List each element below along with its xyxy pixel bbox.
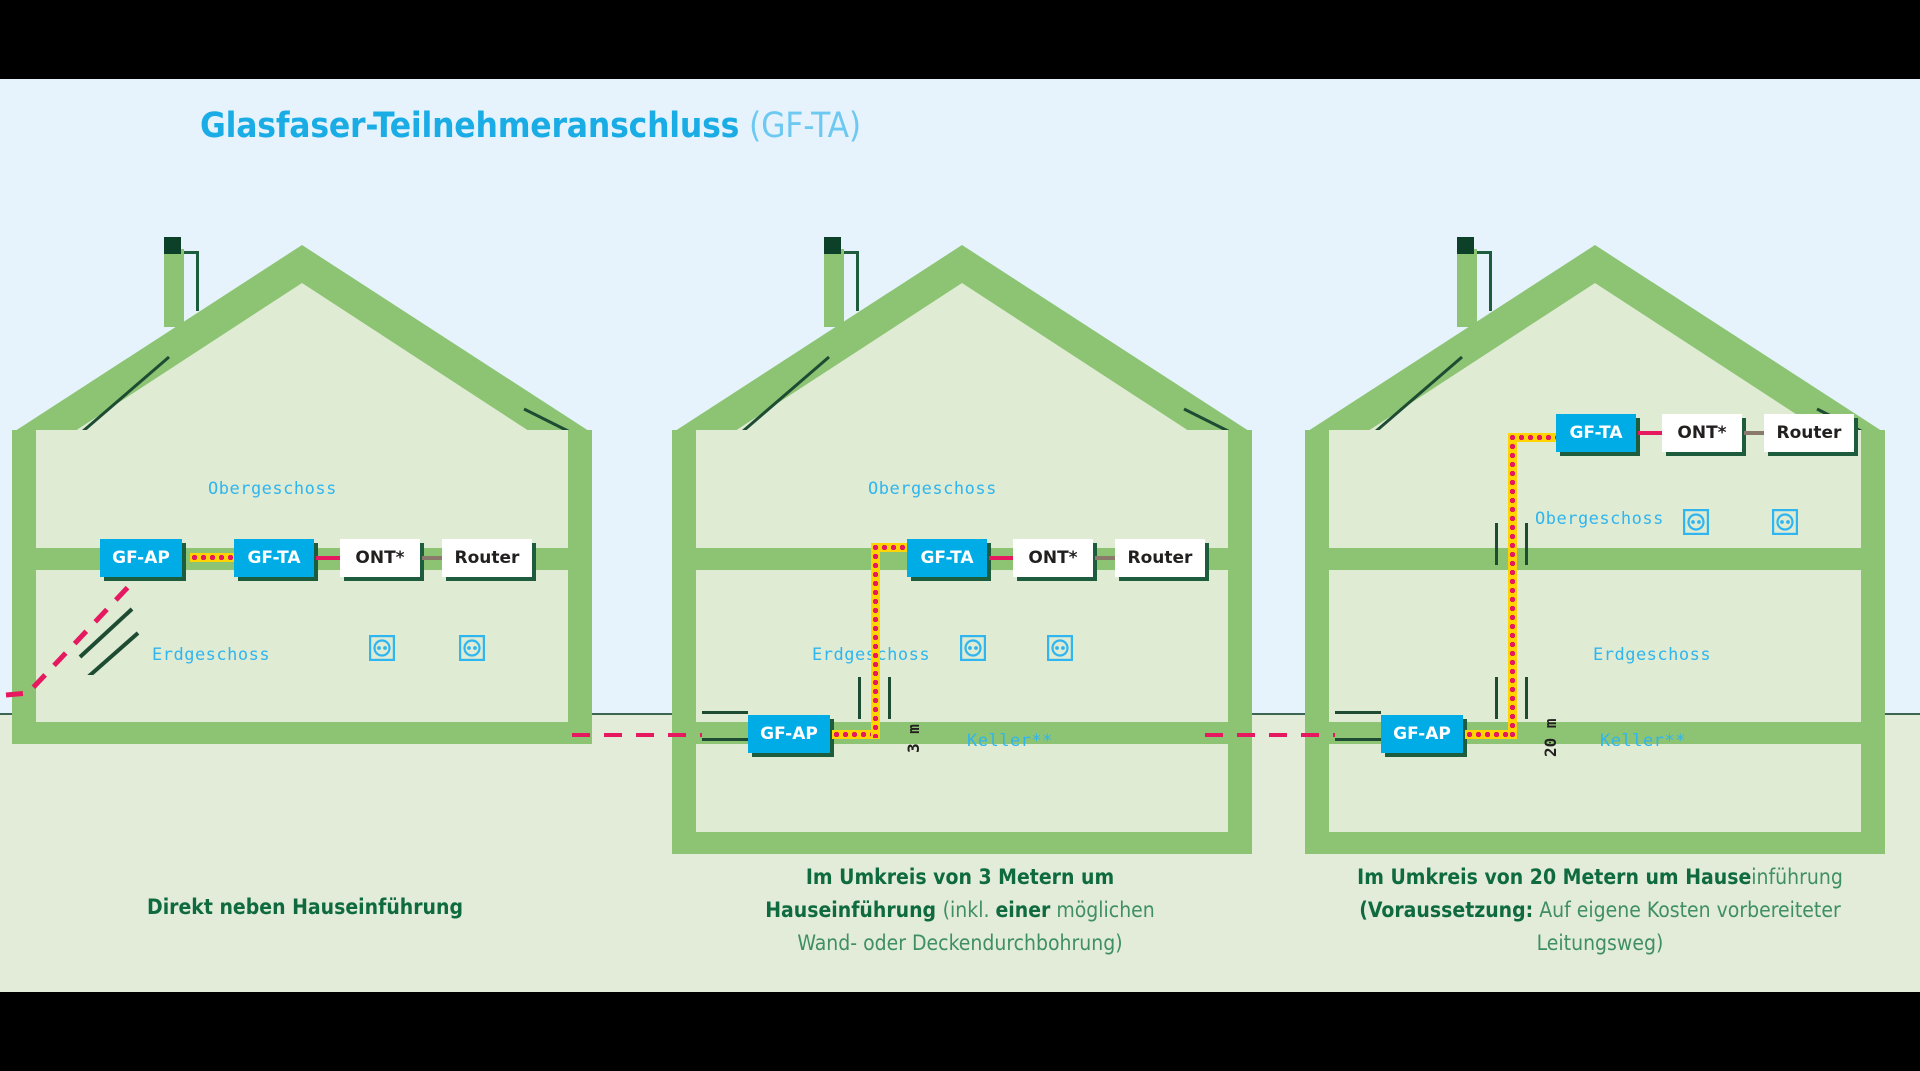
house-3: Obergeschoss Erdgeschoss Keller** GF-AP … xyxy=(1305,237,1885,887)
house-entry-marker xyxy=(1335,711,1381,741)
ceiling-penetration-mark xyxy=(1495,677,1498,719)
roof-icon xyxy=(672,237,1252,442)
floor-label-keller: Keller** xyxy=(967,731,1053,751)
fiber-segment-vertical xyxy=(1508,433,1517,738)
caption-line: Im Umkreis von 3 Metern um xyxy=(660,861,1260,894)
device-ont[interactable]: ONT* xyxy=(1662,414,1742,452)
device-router[interactable]: Router xyxy=(1115,539,1205,577)
caption-house-1: Direkt neben Hauseinführung xyxy=(30,891,580,924)
house-2: Obergeschoss Erdgeschoss Keller** GF-AP … xyxy=(672,237,1252,887)
house-3-body xyxy=(1305,430,1885,854)
caption-house-3: Im Umkreis von 20 Metern um Hauseinführu… xyxy=(1290,861,1910,960)
house-base xyxy=(12,722,592,744)
ceiling-penetration-mark xyxy=(1525,523,1528,565)
caption-line: Im Umkreis von 20 Metern um Hauseinführu… xyxy=(1290,861,1910,894)
device-gf-ta[interactable]: GF-TA xyxy=(1556,414,1636,452)
page-title: Glasfaser-Teilnehmeranschluss (GF-TA) xyxy=(200,106,861,146)
device-router[interactable]: Router xyxy=(442,539,532,577)
ceiling-penetration-mark xyxy=(1525,677,1528,719)
link-ta-ont xyxy=(1638,431,1662,435)
power-socket-icon xyxy=(369,635,395,661)
infographic-canvas: Glasfaser-Teilnehmeranschluss (GF-TA) xyxy=(0,79,1920,992)
device-gf-ap[interactable]: GF-AP xyxy=(1381,715,1463,753)
ceiling-penetration-mark xyxy=(888,677,891,719)
page-title-light: (GF-TA) xyxy=(749,106,861,146)
caption-line: Leitungsweg) xyxy=(1290,927,1910,960)
floor-label-obergeschoss: Obergeschoss xyxy=(868,479,997,499)
floor-label-keller: Keller** xyxy=(1600,731,1686,751)
house-entry-marker xyxy=(74,605,144,675)
page-title-bold: Glasfaser-Teilnehmeranschluss xyxy=(200,106,739,146)
power-socket-icon xyxy=(1772,509,1798,535)
power-socket-icon xyxy=(1047,635,1073,661)
caption-line: (Voraussetzung: Auf eigene Kosten vorber… xyxy=(1290,894,1910,927)
device-router[interactable]: Router xyxy=(1764,414,1854,452)
caption-line: Hauseinführung (inkl. einer möglichen xyxy=(660,894,1260,927)
device-ont[interactable]: ONT* xyxy=(1013,539,1093,577)
power-socket-icon xyxy=(459,635,485,661)
power-socket-icon xyxy=(1683,509,1709,535)
ceiling-penetration-mark xyxy=(1495,523,1498,565)
device-gf-ap[interactable]: GF-AP xyxy=(748,715,830,753)
roof-icon xyxy=(1305,237,1885,442)
power-socket-icon xyxy=(960,635,986,661)
fiber-segment-horizontal-top xyxy=(871,543,907,552)
floor-separator xyxy=(1305,548,1885,570)
floor-keller xyxy=(672,744,1252,832)
floor-label-obergeschoss: Obergeschoss xyxy=(208,479,337,499)
house-1: Obergeschoss Erdgeschoss GF-AP GF-TA ONT… xyxy=(12,237,592,887)
device-gf-ta[interactable]: GF-TA xyxy=(234,539,314,577)
link-ta-ont xyxy=(316,556,340,560)
device-gf-ap[interactable]: GF-AP xyxy=(100,539,182,577)
house-base xyxy=(1305,832,1885,854)
street-cable xyxy=(572,733,702,737)
device-gf-ta[interactable]: GF-TA xyxy=(907,539,987,577)
fiber-segment-horizontal-top xyxy=(1508,433,1556,442)
link-ta-ont xyxy=(989,556,1013,560)
link-ont-router xyxy=(1095,556,1115,560)
screenshot-root: Glasfaser-Teilnehmeranschluss (GF-TA) xyxy=(0,0,1920,1071)
caption-line: Wand- oder Deckendurchbohrung) xyxy=(660,927,1260,960)
fiber-segment-vertical xyxy=(871,543,880,738)
ceiling-penetration-mark xyxy=(858,677,861,719)
floor-label-erdgeschoss: Erdgeschoss xyxy=(1593,645,1711,665)
floor-keller xyxy=(1305,744,1885,832)
house-entry-marker xyxy=(702,711,748,741)
roof-icon xyxy=(12,237,592,442)
device-ont[interactable]: ONT* xyxy=(340,539,420,577)
street-cable xyxy=(1205,733,1335,737)
floor-label-obergeschoss: Obergeschoss xyxy=(1535,509,1664,529)
caption-house-2: Im Umkreis von 3 Metern umHauseinführung… xyxy=(660,861,1260,960)
distance-label: 3 m xyxy=(904,724,923,753)
caption-line: Direkt neben Hauseinführung xyxy=(30,891,580,924)
link-ont-router xyxy=(422,556,442,560)
link-ont-router xyxy=(1744,431,1764,435)
house-base xyxy=(672,832,1252,854)
fiber-link-ap-ta xyxy=(190,553,234,562)
distance-label: 20 m xyxy=(1541,718,1560,757)
